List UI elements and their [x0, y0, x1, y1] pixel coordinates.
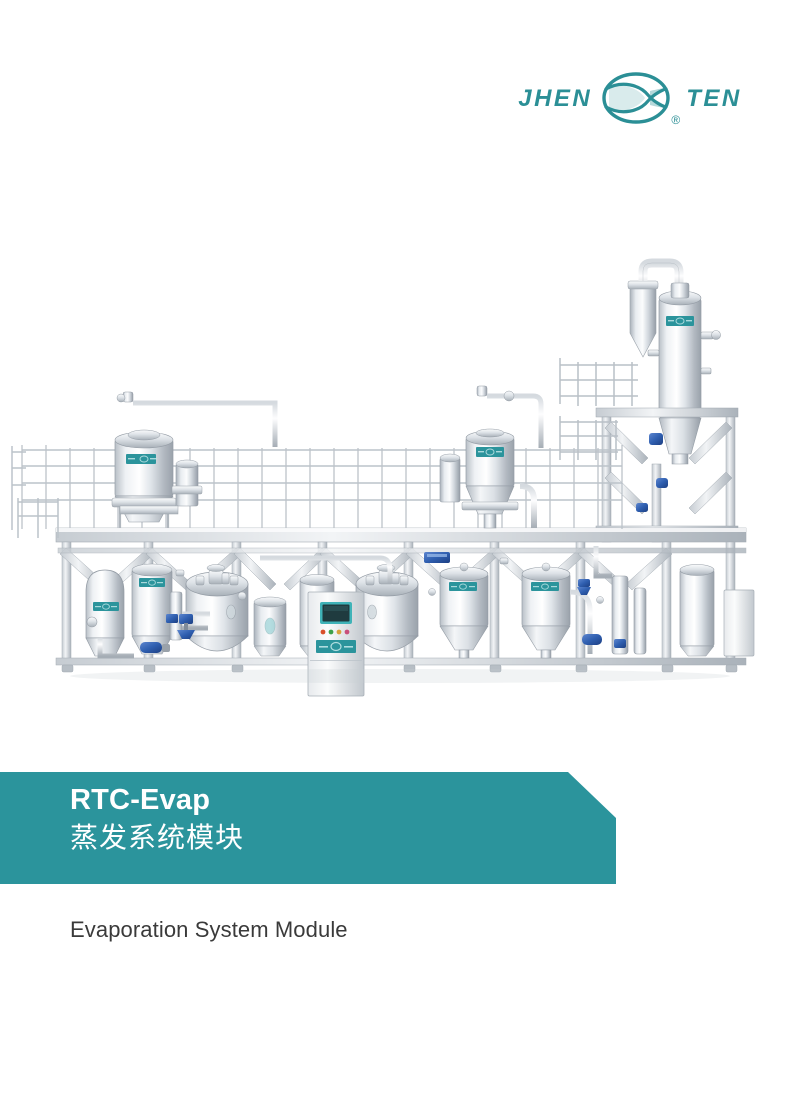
left-upper-vessel — [112, 392, 275, 528]
product-photo-evaporation-skid — [0, 240, 800, 730]
brand-wordmark-left: JHEN — [518, 87, 592, 111]
brand-wordmark-right: TEN — [686, 87, 742, 111]
mezzanine-platform — [56, 528, 746, 542]
product-brochure-page: JHEN ® TEN — [0, 0, 800, 1109]
brand-logo: JHEN ® TEN — [519, 68, 741, 130]
conical-bottom-tank-a — [440, 563, 488, 658]
product-title-banner: RTC-Evap 蒸发系统模块 — [0, 772, 616, 884]
receiver-tank-left — [86, 570, 124, 656]
distillation-column-assembly — [628, 263, 721, 504]
agitated-reactor-left — [186, 565, 248, 652]
agitated-reactor-center — [356, 565, 418, 652]
brand-emblem-icon: ® — [600, 71, 678, 127]
product-subtitle-english: Evaporation System Module — [70, 917, 348, 943]
registered-trademark-icon: ® — [671, 113, 680, 127]
product-name-chinese: 蒸发系统模块 — [70, 822, 244, 854]
conical-bottom-tank-b — [522, 563, 570, 658]
product-code: RTC-Evap — [70, 785, 210, 816]
